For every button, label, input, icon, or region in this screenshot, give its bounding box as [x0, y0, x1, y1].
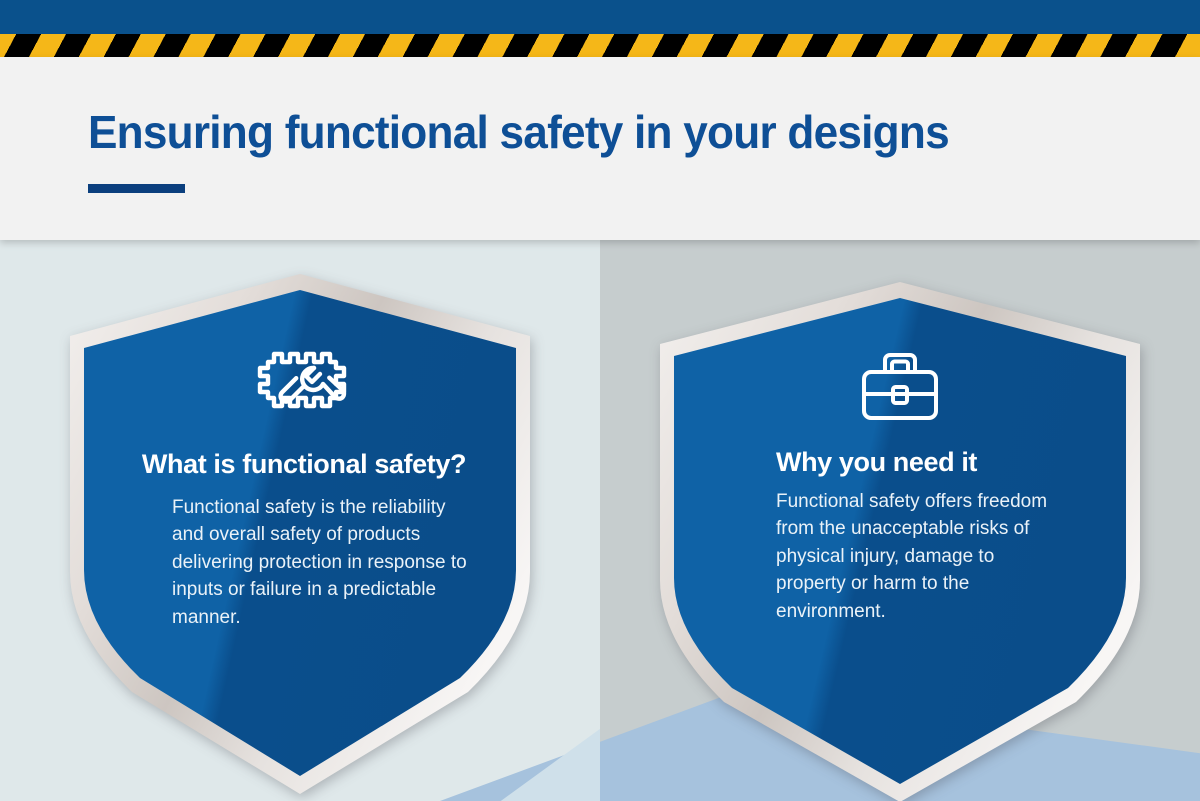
card-body-right: Functional safety offers freedom from th… [776, 488, 1066, 626]
card-heading-left: What is functional safety? [76, 450, 532, 480]
card-what-is-functional-safety[interactable]: What is functional safety? Functional sa… [68, 272, 532, 796]
toolbox-icon [859, 350, 941, 424]
infographic-page: Ensuring functional safety in your desig… [0, 0, 1200, 801]
card-content-right: Why you need it Functional safety offers… [658, 350, 1142, 625]
icon-wrap-left [68, 336, 532, 428]
icon-wrap-right [658, 350, 1142, 424]
card-why-you-need-it[interactable]: Why you need it Functional safety offers… [658, 280, 1142, 801]
title-underline [88, 184, 185, 193]
card-content-left: What is functional safety? Functional sa… [68, 336, 532, 631]
page-title: Ensuring functional safety in your desig… [88, 105, 949, 159]
chip-wrench-icon [252, 336, 348, 428]
card-heading-right: Why you need it [776, 448, 1142, 478]
hazard-stripe-band [0, 34, 1200, 57]
top-blue-bar [0, 0, 1200, 34]
header-band: Ensuring functional safety in your desig… [0, 57, 1200, 240]
card-body-left: Functional safety is the reliability and… [172, 494, 472, 632]
